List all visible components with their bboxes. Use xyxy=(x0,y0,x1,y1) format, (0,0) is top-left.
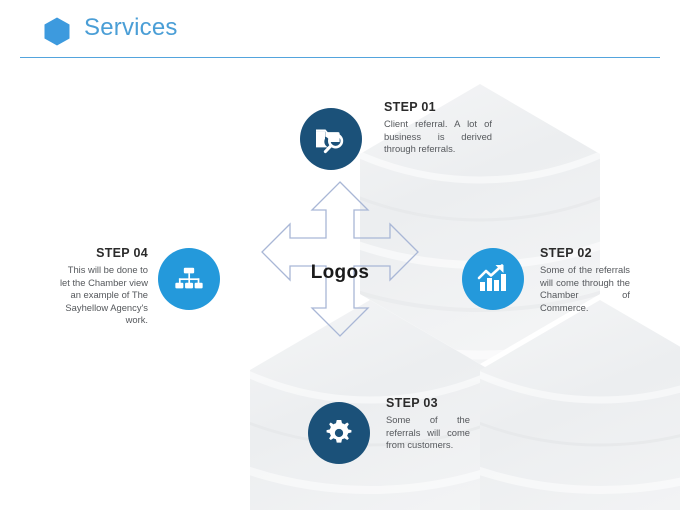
step-title: STEP 03 xyxy=(386,396,470,410)
center-label: Logos xyxy=(240,178,440,368)
step-text-03: STEP 03 Some of the referrals will come … xyxy=(386,396,470,452)
header-divider xyxy=(20,57,660,58)
step-text-01: STEP 01 Client referral. A lot of busine… xyxy=(384,100,492,156)
step-title: STEP 02 xyxy=(540,246,630,260)
step-description: Client referral. A lot of business is de… xyxy=(384,118,492,156)
step-text-04: STEP 04 This will be done to let the Cha… xyxy=(56,246,148,327)
page-title: Services xyxy=(84,14,178,42)
step-text-02: STEP 02 Some of the referrals will come … xyxy=(540,246,630,314)
step-title: STEP 01 xyxy=(384,100,492,114)
step-description: Some of the referrals will come through … xyxy=(540,264,630,314)
step-description: This will be done to let the Chamber vie… xyxy=(56,264,148,327)
growth-chart-icon xyxy=(462,248,524,310)
hexagon-icon xyxy=(44,17,70,46)
step-description: Some of the referrals will come from cus… xyxy=(386,414,470,452)
gear-icon xyxy=(308,402,370,464)
folder-search-icon xyxy=(300,108,362,170)
step-title: STEP 04 xyxy=(56,246,148,260)
page-header: Services xyxy=(0,0,680,62)
org-chart-icon xyxy=(158,248,220,310)
